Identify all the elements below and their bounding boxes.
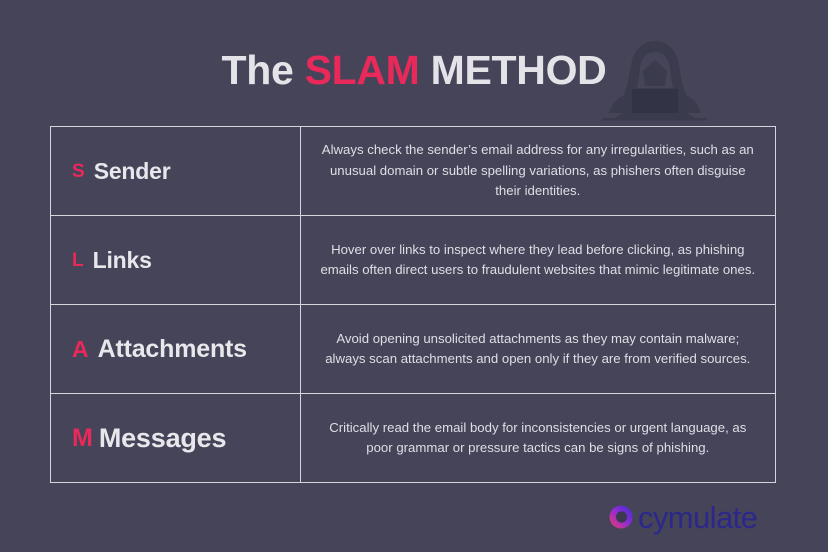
brand-logo: cymulate: [607, 500, 757, 534]
row-letter: L: [72, 251, 84, 270]
slam-method-infographic: The SLAM METHOD S Sender: [0, 0, 828, 552]
table-row: A Attachments Avoid opening unsolicited …: [51, 305, 775, 394]
row-label: Sender: [94, 160, 171, 183]
row-letter: A: [72, 338, 89, 361]
row-label: Messages: [99, 425, 226, 452]
page-title-accent: SLAM: [305, 47, 420, 93]
hooded-hacker-laptop-icon: [603, 33, 707, 121]
row-label: Links: [93, 249, 152, 272]
row-description: Always check the sender’s email address …: [319, 140, 757, 201]
table-cell-description: Critically read the email body for incon…: [301, 394, 775, 482]
table-cell-description: Always check the sender’s email address …: [301, 127, 775, 215]
table-row: M Messages Critically read the email bod…: [51, 394, 775, 482]
table-cell-label: A Attachments: [51, 305, 301, 393]
slam-table: S Sender Always check the sender’s email…: [50, 126, 776, 483]
row-description: Avoid opening unsolicited attachments as…: [319, 329, 757, 370]
page-title-prefix: The: [221, 47, 304, 93]
table-cell-description: Avoid opening unsolicited attachments as…: [301, 305, 775, 393]
row-description: Hover over links to inspect where they l…: [319, 240, 757, 281]
row-letter: M: [72, 426, 93, 451]
table-row: L Links Hover over links to inspect wher…: [51, 216, 775, 305]
table-cell-label: M Messages: [51, 394, 301, 482]
table-cell-label: S Sender: [51, 127, 301, 215]
row-label: Attachments: [98, 337, 247, 362]
table-cell-label: L Links: [51, 216, 301, 304]
row-description: Critically read the email body for incon…: [319, 418, 757, 459]
table-row: S Sender Always check the sender’s email…: [51, 127, 775, 216]
row-letter: S: [72, 162, 85, 181]
cymulate-ring-logo-icon: [607, 503, 635, 531]
table-cell-description: Hover over links to inspect where they l…: [301, 216, 775, 304]
page-title-suffix: METHOD: [420, 47, 607, 93]
brand-name: cymulate: [638, 502, 757, 533]
